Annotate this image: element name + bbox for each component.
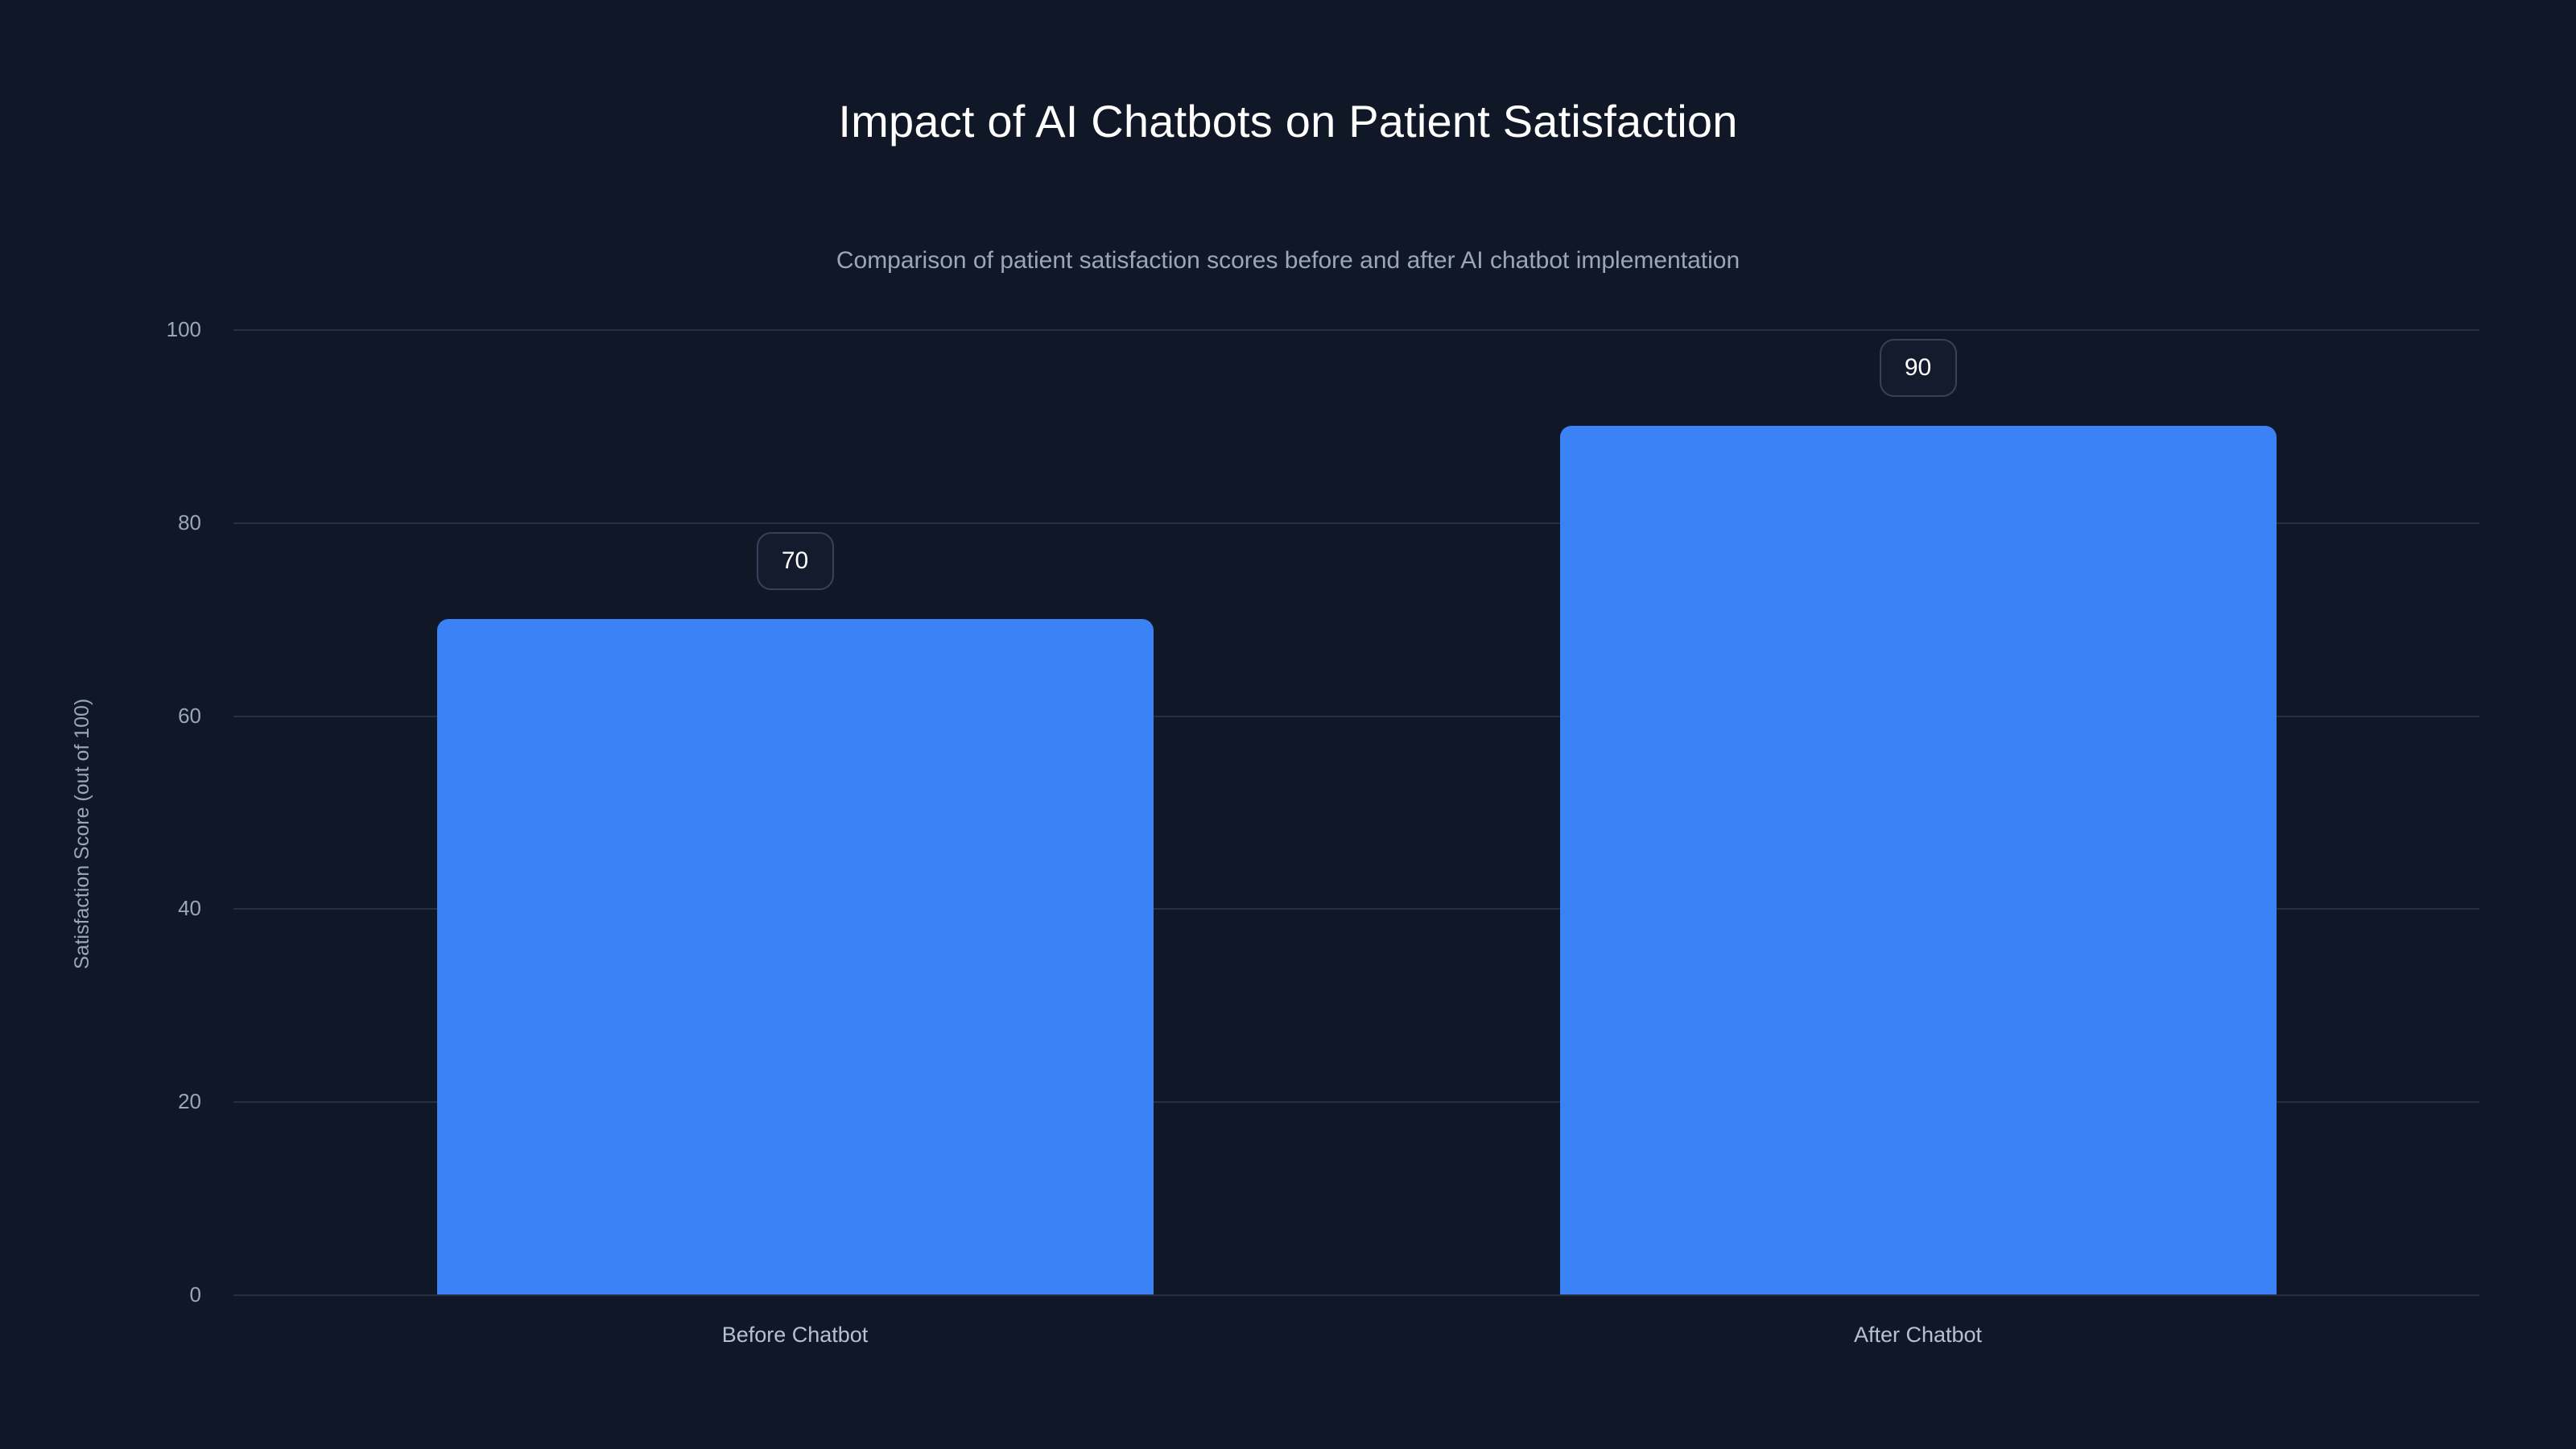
plot-area xyxy=(233,329,2479,1294)
y-axis-tick-label: 80 xyxy=(105,512,201,533)
bar-after-chatbot[interactable] xyxy=(1560,426,2277,1294)
chart-title: Impact of AI Chatbots on Patient Satisfa… xyxy=(0,97,2576,147)
x-axis-tick-label: Before Chatbot xyxy=(722,1324,869,1346)
bar-before-chatbot[interactable] xyxy=(437,619,1154,1294)
value-label-after-chatbot: 90 xyxy=(1880,339,1957,397)
y-axis-tick-label: 40 xyxy=(105,898,201,919)
x-axis-tick-label: After Chatbot xyxy=(1854,1324,1982,1346)
chart-canvas: Impact of AI Chatbots on Patient Satisfa… xyxy=(0,0,2576,1449)
gridline xyxy=(233,329,2479,331)
y-axis-tick-label: 20 xyxy=(105,1091,201,1112)
y-axis-tick-label: 100 xyxy=(105,319,201,340)
axis-baseline xyxy=(233,1294,2479,1296)
y-axis-title: Satisfaction Score (out of 100) xyxy=(71,698,94,968)
value-label-before-chatbot: 70 xyxy=(757,532,834,590)
chart-subtitle: Comparison of patient satisfaction score… xyxy=(0,246,2576,275)
y-axis-tick-label: 60 xyxy=(105,705,201,726)
y-axis-tick-label: 0 xyxy=(105,1284,201,1305)
